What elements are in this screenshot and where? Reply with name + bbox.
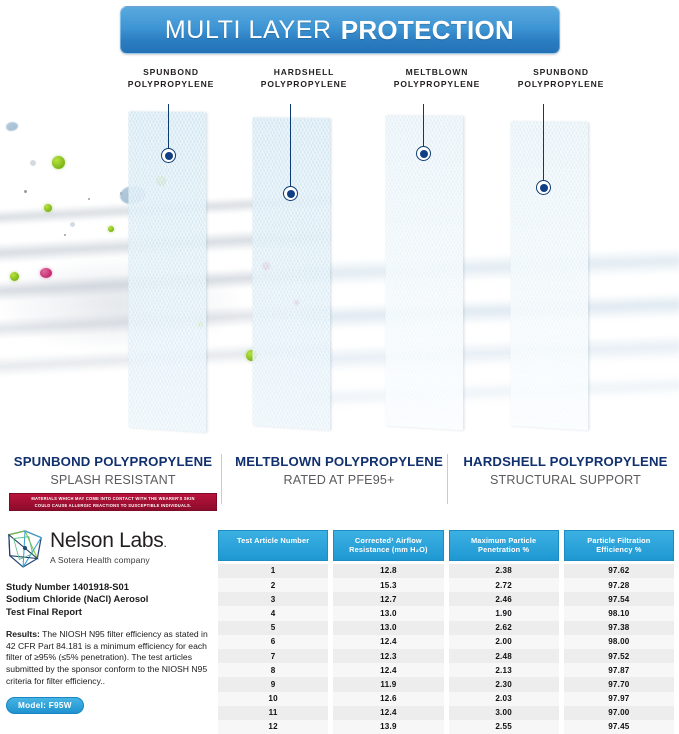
table-row: 712.32.4897.52 [218,649,674,663]
magenta-particle [40,268,52,278]
cell-test-article-number: 10 [218,692,328,706]
allergy-warning-banner: MATERIALS WHICH MAY COME INTO CONTACT WI… [9,493,217,511]
cell-max-particle-penetration: 3.00 [449,706,559,720]
warning-line-2: COULD CAUSE ALLERGIC REACTIONS TO SUSCEP… [35,502,192,510]
table-row: 1012.62.0397.97 [218,692,674,706]
description-column-hardshell: HARDSHELL POLYPROPYLENE STRUCTURAL SUPPO… [452,452,679,514]
callout-label-hardshell: HARDSHELL POLYPROPYLENE [238,66,370,90]
pointer-dot-meltblown [416,146,431,161]
dark-speck [64,234,66,236]
table-header-cell-particle-filtration-efficiency: Particle Filtration Efficiency % [564,530,674,561]
mask-layer-illustration [0,104,679,440]
cell-max-particle-penetration: 2.30 [449,677,559,691]
cell-max-particle-penetration: 2.48 [449,649,559,663]
cell-airflow-resistance: 13.9 [333,720,443,734]
logo-wordmark: Nelson Labs. [50,530,167,554]
droplet-speck [30,160,36,166]
header-line-1: Test Article Number [221,536,325,545]
header-line-2: Efficiency % [567,545,671,554]
cell-test-article-number: 11 [218,706,328,720]
callout-label-meltblown: MELTBLOWN POLYPROPYLENE [371,66,503,90]
mask-layer-spunbond-inner [510,122,588,431]
logo-name-period: . [163,536,166,550]
cell-particle-filtration-efficiency: 97.52 [564,649,674,663]
header-line-1: Particle Filtration [567,536,671,545]
pointer-dot-spunbond-inner [536,180,551,195]
cell-particle-filtration-efficiency: 98.00 [564,635,674,649]
callout-label-spunbond-inner: SPUNBOND POLYPROPYLENE [495,66,627,90]
cell-particle-filtration-efficiency: 97.87 [564,663,674,677]
cell-max-particle-penetration: 2.46 [449,592,559,606]
table-row: 112.82.3897.62 [218,564,674,578]
cell-test-article-number: 3 [218,592,328,606]
cell-airflow-resistance: 11.9 [333,677,443,691]
mask-layer-meltblown [385,116,463,431]
cell-test-article-number: 6 [218,635,328,649]
callout-line1: SPUNBOND [495,66,627,78]
table-row: 513.02.6297.38 [218,621,674,635]
pointer-line-spunbond-inner [543,104,544,182]
cell-particle-filtration-efficiency: 97.62 [564,564,674,578]
filtered-airflow-streaks [300,247,679,410]
header-line-2: Resistance (mm H₂O) [336,545,440,554]
table-row: 215.32.7297.28 [218,578,674,592]
cell-airflow-resistance: 12.8 [333,564,443,578]
cell-test-article-number: 12 [218,720,328,734]
description-subtitle: SPLASH RESISTANT [0,473,226,487]
study-info-block: Study Number 1401918-S01 Sodium Chloride… [6,581,211,618]
cell-particle-filtration-efficiency: 98.10 [564,606,674,620]
pointer-dot-spunbond-outer [161,148,176,163]
table-row: 1112.43.0097.00 [218,706,674,720]
header-line-1: Corrected¹ Airflow [336,536,440,545]
logo-name-text: Nelson Labs [50,529,163,552]
description-title: SPUNBOND POLYPROPYLENE [0,454,226,470]
cell-airflow-resistance: 12.4 [333,706,443,720]
warning-line-1: MATERIALS WHICH MAY COME INTO CONTACT WI… [31,495,194,503]
cell-test-article-number: 1 [218,564,328,578]
study-number: Study Number 1401918-S01 [6,581,211,593]
table-header-cell-test-article-number: Test Article Number [218,530,328,561]
model-badge: Model: F95W [6,697,84,714]
description-subtitle: STRUCTURAL SUPPORT [452,473,679,487]
splash-droplet [6,122,18,131]
table-header-row: Test Article Number Corrected¹ Airflow R… [218,530,674,561]
cell-particle-filtration-efficiency: 97.00 [564,706,674,720]
callout-label-spunbond-outer: SPUNBOND POLYPROPYLENE [105,66,237,90]
banner-title-bold: PROTECTION [341,15,514,46]
test-results-table: Test Article Number Corrected¹ Airflow R… [218,530,674,734]
cell-max-particle-penetration: 2.03 [449,692,559,706]
banner-title-light: MULTI LAYER [165,16,332,45]
cell-airflow-resistance: 12.7 [333,592,443,606]
cell-airflow-resistance: 12.4 [333,663,443,677]
test-report-panel: Nelson Labs. A Sotera Health company Stu… [6,528,211,714]
cell-particle-filtration-efficiency: 97.54 [564,592,674,606]
table-row: 1213.92.5597.45 [218,720,674,734]
cell-max-particle-penetration: 1.90 [449,606,559,620]
header-banner-container: MULTI LAYER PROTECTION [0,6,679,54]
callout-line1: HARDSHELL [238,66,370,78]
table-header-cell-max-particle-penetration: Maximum Particle Penetration % [449,530,559,561]
header-banner: MULTI LAYER PROTECTION [120,6,560,54]
study-aerosol: Sodium Chloride (NaCl) Aerosol [6,593,211,605]
cell-airflow-resistance: 12.4 [333,635,443,649]
droplet-speck [70,222,75,227]
dark-speck [24,190,27,193]
cell-test-article-number: 8 [218,663,328,677]
pointer-line-spunbond-outer [168,104,169,150]
cell-test-article-number: 7 [218,649,328,663]
nelson-labs-logo: Nelson Labs. A Sotera Health company [6,528,211,569]
cell-airflow-resistance: 13.0 [333,621,443,635]
table-body: 112.82.3897.62215.32.7297.28312.72.4697.… [218,564,674,734]
dark-speck [88,198,90,200]
green-particle [44,204,52,212]
cell-max-particle-penetration: 2.13 [449,663,559,677]
green-particle [108,226,114,232]
table-row: 612.42.0098.00 [218,635,674,649]
pointer-line-meltblown [423,104,424,148]
cell-test-article-number: 5 [218,621,328,635]
pointer-line-hardshell [290,104,291,188]
cell-airflow-resistance: 13.0 [333,606,443,620]
table-row: 911.92.3097.70 [218,677,674,691]
callout-line1: MELTBLOWN [371,66,503,78]
callout-line2: POLYPROPYLENE [238,78,370,90]
table-row: 413.01.9098.10 [218,606,674,620]
cell-max-particle-penetration: 2.00 [449,635,559,649]
shield-icon [6,529,44,569]
cell-test-article-number: 2 [218,578,328,592]
cell-particle-filtration-efficiency: 97.28 [564,578,674,592]
cell-particle-filtration-efficiency: 97.38 [564,621,674,635]
table-header-cell-airflow-resistance: Corrected¹ Airflow Resistance (mm H₂O) [333,530,443,561]
table-row: 812.42.1397.87 [218,663,674,677]
cell-particle-filtration-efficiency: 97.45 [564,720,674,734]
callout-line1: SPUNBOND [105,66,237,78]
header-line-2: Penetration % [452,545,556,554]
cell-airflow-resistance: 12.6 [333,692,443,706]
pointer-dot-hardshell [283,186,298,201]
cell-max-particle-penetration: 2.38 [449,564,559,578]
results-label: Results: [6,629,40,639]
logo-text-block: Nelson Labs. A Sotera Health company [50,528,167,565]
callout-line2: POLYPROPYLENE [371,78,503,90]
cell-airflow-resistance: 15.3 [333,578,443,592]
study-report-type: Test Final Report [6,606,211,618]
cell-max-particle-penetration: 2.62 [449,621,559,635]
callout-line2: POLYPROPYLENE [495,78,627,90]
header-line-1: Maximum Particle [452,536,556,545]
cell-test-article-number: 4 [218,606,328,620]
cell-airflow-resistance: 12.3 [333,649,443,663]
green-particle [52,156,65,169]
cell-test-article-number: 9 [218,677,328,691]
cell-particle-filtration-efficiency: 97.97 [564,692,674,706]
cell-max-particle-penetration: 2.55 [449,720,559,734]
green-particle [10,272,19,281]
cell-particle-filtration-efficiency: 97.70 [564,677,674,691]
cell-max-particle-penetration: 2.72 [449,578,559,592]
layer-description-row: SPUNBOND POLYPROPYLENE SPLASH RESISTANT … [0,452,679,514]
description-title: HARDSHELL POLYPROPYLENE [452,454,679,470]
description-column-meltblown: MELTBLOWN POLYPROPYLENE RATED AT PFE95+ [226,452,452,514]
table-row: 312.72.4697.54 [218,592,674,606]
results-paragraph: Results: The NIOSH N95 filter efficiency… [6,629,211,687]
description-title: MELTBLOWN POLYPROPYLENE [226,454,452,470]
logo-tagline: A Sotera Health company [50,555,167,565]
description-subtitle: RATED AT PFE95+ [226,473,452,487]
callout-line2: POLYPROPYLENE [105,78,237,90]
description-column-spunbond: SPUNBOND POLYPROPYLENE SPLASH RESISTANT … [0,452,226,514]
